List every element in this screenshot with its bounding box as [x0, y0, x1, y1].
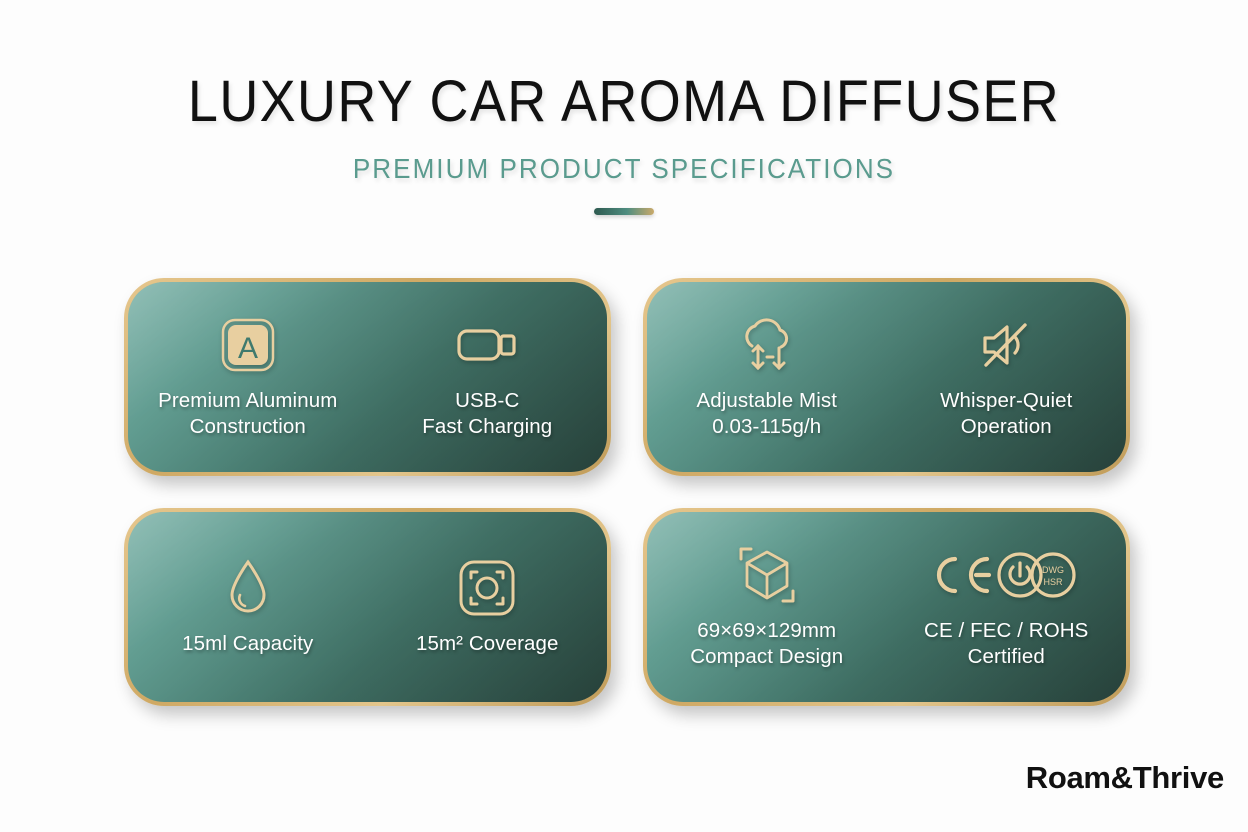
- feature-label: 15m² Coverage: [416, 631, 559, 657]
- feature-label: 15ml Capacity: [182, 631, 313, 657]
- water-droplet-icon: [225, 557, 271, 619]
- specification-card-grid: A Premium Aluminum Construction USB-C Fa…: [124, 278, 1124, 706]
- feature-capacity[interactable]: 15ml Capacity: [128, 512, 368, 702]
- feature-compact-design[interactable]: 69×69×129mm Compact Design: [647, 512, 887, 702]
- feature-coverage[interactable]: 15m² Coverage: [368, 512, 608, 702]
- feature-premium-aluminum[interactable]: A Premium Aluminum Construction: [128, 282, 368, 472]
- feature-label: 69×69×129mm Compact Design: [690, 618, 843, 670]
- cube-dimensions-icon: [737, 544, 797, 606]
- muted-speaker-icon: [977, 314, 1035, 376]
- feature-whisper-quiet[interactable]: Whisper-Quiet Operation: [887, 282, 1127, 472]
- svg-text:A: A: [238, 332, 258, 365]
- feature-label: USB-C Fast Charging: [422, 388, 552, 440]
- spec-card-dimensions-and-certifications[interactable]: 69×69×129mm Compact Design: [643, 508, 1130, 706]
- brand-logo: Roam&Thrive: [1026, 760, 1224, 796]
- feature-label: Whisper-Quiet Operation: [940, 388, 1072, 440]
- title-divider: [594, 208, 654, 215]
- adjustable-mist-cloud-icon: [736, 314, 798, 376]
- feature-label: CE / FEC / ROHS Certified: [924, 618, 1088, 670]
- usb-c-plug-icon: [456, 314, 518, 376]
- feature-certifications[interactable]: DWG HSR CE / FEC / ROHS Certified: [887, 512, 1127, 702]
- page-header: LUXURY CAR AROMA DIFFUSER PREMIUM PRODUC…: [0, 0, 1248, 215]
- aluminum-a-badge-icon: A: [220, 314, 276, 376]
- svg-text:DWG: DWG: [1042, 565, 1064, 575]
- spec-card-capacity-and-coverage[interactable]: 15ml Capacity: [124, 508, 611, 706]
- svg-text:HSR: HSR: [1044, 577, 1064, 587]
- feature-adjustable-mist[interactable]: Adjustable Mist 0.03-115g/h: [647, 282, 887, 472]
- feature-label: Premium Aluminum Construction: [158, 388, 337, 440]
- feature-label: Adjustable Mist 0.03-115g/h: [696, 388, 837, 440]
- feature-usb-c-fast-charging[interactable]: USB-C Fast Charging: [368, 282, 608, 472]
- spec-card-materials-and-charging[interactable]: A Premium Aluminum Construction USB-C Fa…: [124, 278, 611, 476]
- coverage-area-frame-icon: [458, 557, 516, 619]
- page-title: LUXURY CAR AROMA DIFFUSER: [44, 72, 1205, 133]
- spec-card-mist-and-noise[interactable]: Adjustable Mist 0.03-115g/h Whisper-Quie…: [643, 278, 1130, 476]
- certification-marks-icon: DWG HSR: [931, 544, 1081, 606]
- page-subtitle: PREMIUM PRODUCT SPECIFICATIONS: [44, 153, 1205, 185]
